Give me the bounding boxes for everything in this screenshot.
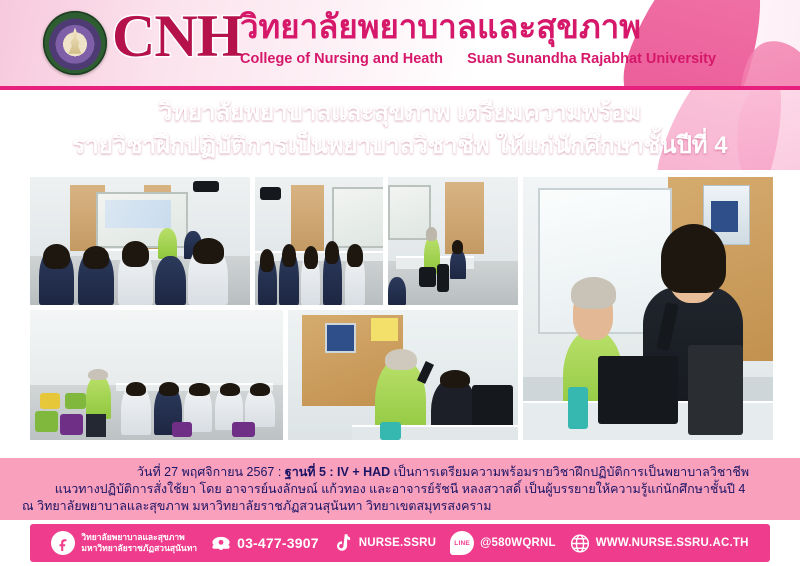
footer-facebook-line-1: วิทยาลัยพยาบาลและสุขภาพ [81, 532, 197, 543]
globe-icon[interactable] [570, 531, 590, 555]
footer-website[interactable]: WWW.NURSE.SSRU.AC.TH [570, 531, 749, 555]
footer-line[interactable]: LINE @580WQRNL [450, 531, 556, 555]
footer-phone[interactable]: 03-477-3907 [211, 531, 319, 555]
gallery-photo-lecture-hall [30, 310, 283, 440]
header-english-line: College of Nursing and Heath Suan Sunand… [240, 50, 716, 68]
header-university-name: Suan Sunandha Rajabhat University [467, 51, 716, 67]
footer-phone-number: 03-477-3907 [237, 537, 319, 550]
footer-website-url: WWW.NURSE.SSRU.AC.TH [596, 537, 749, 550]
gallery-photo-lecturer-green [388, 177, 518, 305]
description-text: วันที่ 27 พฤศจิกายน 2567 : ฐานที่ 5 : IV… [0, 458, 800, 515]
banner-title-line-2: รายวิชาฝึกปฏิบัติการเป็นพยาบาลวิชาชีพ ให… [0, 129, 800, 162]
gallery-photo-students-rows [255, 177, 383, 305]
facebook-icon[interactable] [51, 531, 75, 555]
contact-footer: วิทยาลัยพยาบาลและสุขภาพ มหาวิทยาลัยราชภั… [30, 524, 770, 562]
footer-facebook-text: วิทยาลัยพยาบาลและสุขภาพ มหาวิทยาลัยราชภั… [81, 532, 197, 554]
footer-tiktok-handle: NURSE.SSRU [359, 537, 436, 550]
description-line-3: ณ วิทยาลัยพยาบาลและสุขภาพ มหาวิทยาลัยราช… [16, 498, 784, 515]
banner-text-container: วิทยาลัยพยาบาลและสุขภาพ เตรียมความพร้อม … [0, 90, 800, 162]
cnh-acronym: CNH [112, 4, 242, 68]
gallery-photo-speaker-microphone [288, 310, 518, 440]
description-station-label: ฐานที่ 5 : IV + HAD [285, 465, 390, 479]
footer-tiktok[interactable]: NURSE.SSRU [333, 531, 436, 555]
ssru-seal-logo-icon [43, 11, 107, 75]
telephone-icon[interactable] [211, 531, 231, 555]
gallery-photo-main-speaker [523, 177, 773, 440]
gallery-photo-classroom-projector [30, 177, 250, 305]
line-icon-label: LINE [454, 540, 470, 547]
description-date: วันที่ 27 พฤศจิกายน 2567 : [137, 465, 281, 479]
line-icon[interactable]: LINE [450, 531, 474, 555]
poster-root: CNH วิทยาลัยพยาบาลและสุขภาพ College of N… [0, 0, 800, 566]
tiktok-icon[interactable] [333, 531, 353, 555]
footer-line-id: @580WQRNL [480, 537, 556, 550]
description-line-1: วันที่ 27 พฤศจิกายน 2567 : ฐานที่ 5 : IV… [16, 464, 784, 481]
title-banner: วิทยาลัยพยาบาลและสุขภาพ เตรียมความพร้อม … [0, 86, 800, 174]
footer-facebook[interactable]: วิทยาลัยพยาบาลและสุขภาพ มหาวิทยาลัยราชภั… [51, 531, 197, 555]
photo-gallery [0, 170, 800, 458]
header-english-name: College of Nursing and Heath [240, 51, 443, 67]
banner-title-line-1: วิทยาลัยพยาบาลและสุขภาพ เตรียมความพร้อม [0, 96, 800, 129]
description-line1-tail: เป็นการเตรียมความพร้อมรายวิชาฝึกปฏิบัติก… [394, 465, 749, 479]
description-line-2: แนวทางปฏิบัติการสั่งใช้ยา โดย อาจารย์นงล… [16, 481, 784, 498]
header-thai-name: วิทยาลัยพยาบาลและสุขภาพ [240, 8, 641, 46]
page-header: CNH วิทยาลัยพยาบาลและสุขภาพ College of N… [0, 0, 800, 86]
footer-facebook-line-2: มหาวิทยาลัยราชภัฏสวนสุนันทา [81, 543, 197, 554]
description-panel: วันที่ 27 พฤศจิกายน 2567 : ฐานที่ 5 : IV… [0, 458, 800, 520]
